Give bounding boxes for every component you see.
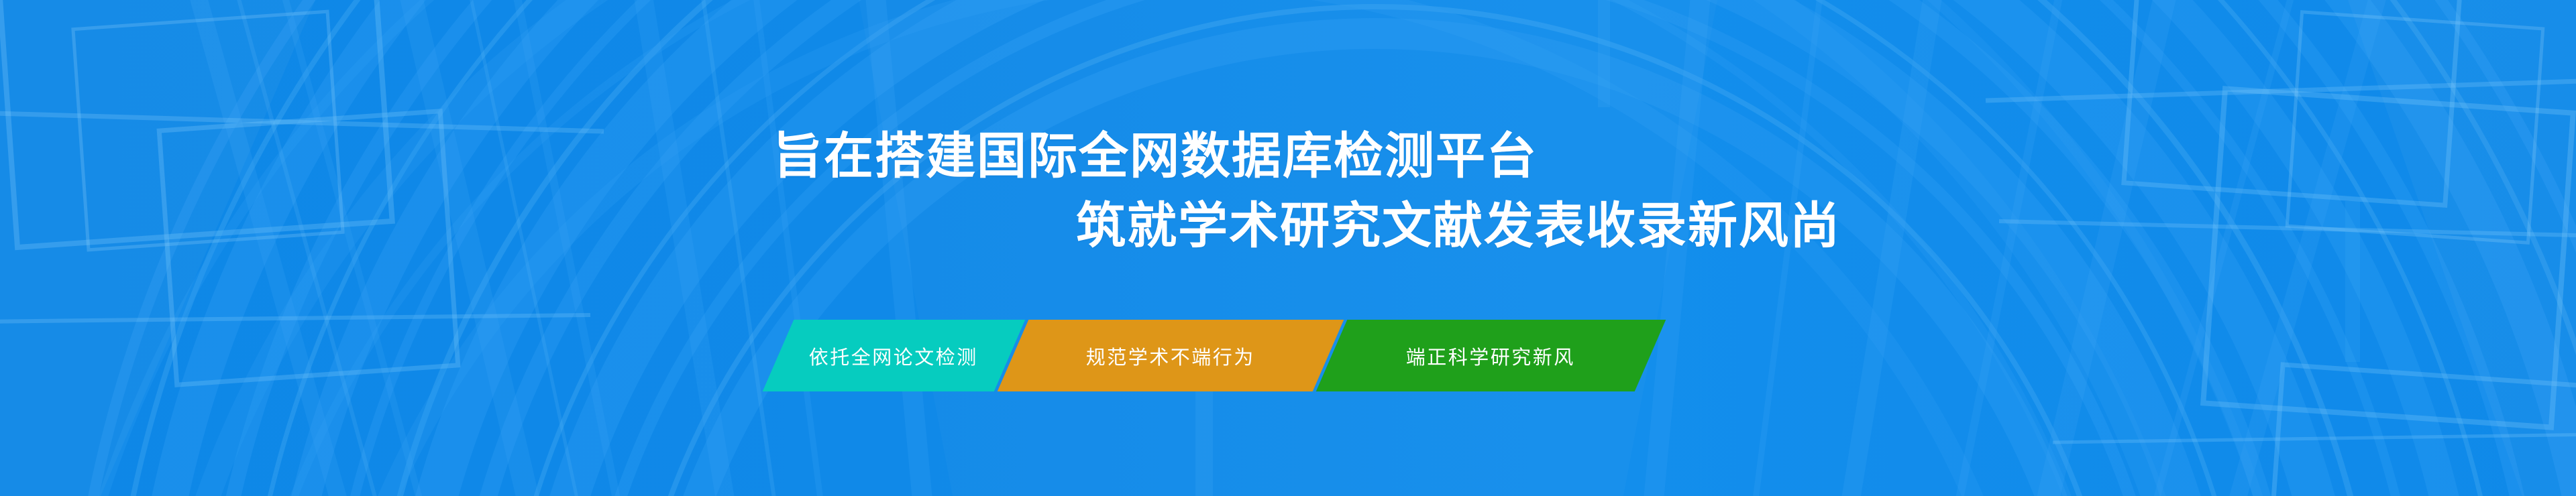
feature-tag-label: 端正科学研究新风 [1406,342,1575,370]
feature-tag-label: 规范学术不端行为 [1086,342,1255,370]
feature-tag-row: 依托全网论文检测 规范学术不端行为 端正科学研究新风 [778,320,1650,391]
feature-tag-guifan-xueshu-buduan[interactable]: 规范学术不端行为 [998,320,1344,391]
feature-tag-quanwang-lunwen-jiance[interactable]: 依托全网论文检测 [763,320,1026,391]
feature-tag-duanzheng-kexue-yanjiu[interactable]: 端正科学研究新风 [1316,320,1666,391]
background-decoration [0,0,2576,496]
promo-banner: 旨在搭建国际全网数据库检测平台 筑就学术研究文献发表收录新风尚 依托全网论文检测… [0,0,2576,496]
feature-tag-label: 依托全网论文检测 [809,342,978,370]
